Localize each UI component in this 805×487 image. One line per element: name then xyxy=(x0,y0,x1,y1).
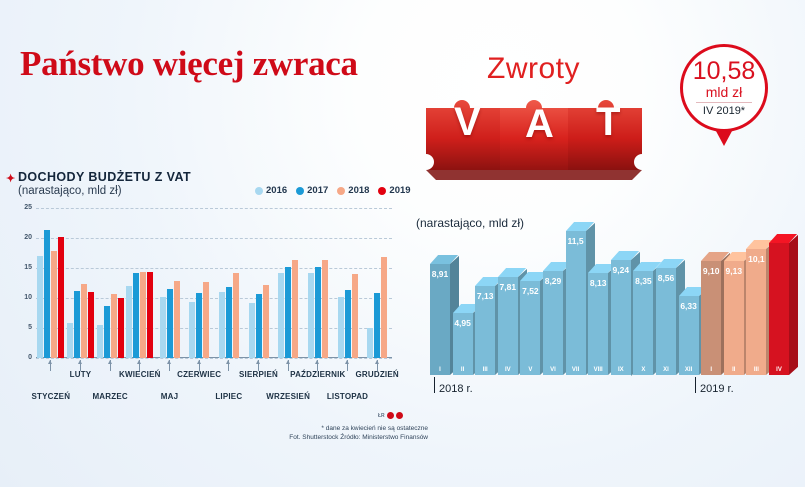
bar-2017 xyxy=(256,294,262,358)
y-axis-tick: 10 xyxy=(14,294,32,301)
bar-value-label: 8,35 xyxy=(633,276,653,286)
bar-month-label: IV xyxy=(498,367,518,373)
bar-2017 xyxy=(315,267,321,358)
footnote-line-1: * dane za kwiecień nie są ostateczne xyxy=(232,424,428,433)
bar-month-label: III xyxy=(475,367,495,373)
bar-value-label: 8,91 xyxy=(430,269,450,279)
bar-2018 xyxy=(233,273,239,358)
bar-group xyxy=(125,208,155,358)
bar-group xyxy=(184,208,214,358)
x-axis-label: CZERWIEC xyxy=(177,370,221,379)
zwroty-title: Zwroty xyxy=(487,52,580,86)
bar-3d: 8,13VIII xyxy=(588,273,608,375)
bar-3d: 6,33XII xyxy=(679,296,699,375)
bar-2018 xyxy=(203,282,209,358)
bar-value-label: 8,56 xyxy=(656,273,676,283)
bar-month-label: III xyxy=(746,367,766,373)
bar-month-label: I xyxy=(701,367,721,373)
legend-item-2016: 2016 xyxy=(255,185,287,196)
chart-legend: 2016201720182019 xyxy=(255,185,411,196)
bar-face xyxy=(588,273,608,375)
legend-item-2018: 2018 xyxy=(337,185,369,196)
bar-3d: 9,10I xyxy=(701,261,721,375)
bar-group xyxy=(273,208,303,358)
bar-3d: 9,24IX xyxy=(611,260,631,376)
bar-2016 xyxy=(126,286,132,358)
legend-dot-icon xyxy=(378,187,386,195)
bar-value-label: 9,13 xyxy=(724,266,744,276)
bar-face xyxy=(566,231,586,375)
year-2018-tick xyxy=(434,377,435,393)
x-axis-label: PAŹDZIERNIK xyxy=(290,370,345,379)
bar-2016 xyxy=(37,256,43,358)
bar-group xyxy=(36,208,66,358)
bar-2018 xyxy=(140,272,146,358)
y-axis-tick: 25 xyxy=(14,204,32,211)
x-axis-label: LIPIEC xyxy=(215,392,242,401)
chart-header: ✦ Dochody budżetu z VAT (narastająco, ml… xyxy=(18,170,191,197)
bar-3d: 7,13III xyxy=(475,286,495,375)
y-axis-tick: 0 xyxy=(14,354,32,361)
footnote-line-2: Fot. Shutterstock Źródło: Ministerstwo F… xyxy=(232,433,428,442)
x-axis-label: LUTY xyxy=(70,370,92,379)
x-axis-labels: STYCZEŃLUTYMARZECKWIECIEŃMAJCZERWIECLIPI… xyxy=(36,370,392,412)
legend-dot-icon xyxy=(296,187,304,195)
bar-2019 xyxy=(88,292,94,358)
bar-3d: 8,29VI xyxy=(543,271,563,375)
bar-3d: 8,35X xyxy=(633,271,653,375)
bar-2018 xyxy=(263,285,269,358)
gridline xyxy=(36,358,392,359)
bar-month-label: XI xyxy=(656,367,676,373)
pin-value: 10,58 xyxy=(693,59,756,84)
bar-2016 xyxy=(278,273,284,358)
x-axis-label: WRZESIEŃ xyxy=(266,392,310,401)
bar-2017 xyxy=(374,293,380,358)
x-axis-label: MARZEC xyxy=(92,392,127,401)
bar-face xyxy=(724,261,744,375)
bar-2016 xyxy=(97,325,103,358)
left-panel: Państwo więcej zwraca ✦ Dochody budżetu … xyxy=(0,0,412,487)
bar-value-label: 7,81 xyxy=(498,282,518,292)
bar-group xyxy=(214,208,244,358)
legend-label: 2018 xyxy=(348,185,369,196)
bar-month-label: VIII xyxy=(588,367,608,373)
bar-2018 xyxy=(51,251,57,358)
bar-value-label: 9,10 xyxy=(701,266,721,276)
bar-value-label: 7,13 xyxy=(475,291,495,301)
bar-group xyxy=(362,208,392,358)
legend-item-2017: 2017 xyxy=(296,185,328,196)
bar-2016 xyxy=(67,323,73,358)
bar-face xyxy=(430,264,450,375)
legend-label: 2017 xyxy=(307,185,328,196)
bar-3d: 8,91I xyxy=(430,264,450,375)
bar-2016 xyxy=(189,302,195,358)
bar-group xyxy=(95,208,125,358)
y-axis-tick: 5 xyxy=(14,324,32,331)
bar-2017 xyxy=(74,291,80,358)
x-axis-label: MAJ xyxy=(161,392,179,401)
bar-group xyxy=(303,208,333,358)
x-axis-label: KWIECIEŃ xyxy=(119,370,161,379)
bar-month-label: X xyxy=(633,367,653,373)
bar-3d: 11,5VII xyxy=(566,231,586,375)
bar-value-label: 9,24 xyxy=(611,265,631,275)
bar-month-label: IX xyxy=(611,367,631,373)
bar-face xyxy=(746,249,766,375)
legend-label: 2016 xyxy=(266,185,287,196)
bar-value-label: 10,1 xyxy=(746,254,766,264)
infographic-page: Państwo więcej zwraca ✦ Dochody budżetu … xyxy=(0,0,805,487)
bar-value-label: 11,5 xyxy=(566,236,586,246)
bar-2018 xyxy=(174,281,180,358)
bar-2016 xyxy=(219,292,225,358)
bar-2017 xyxy=(226,287,232,358)
vat-letter-t: T xyxy=(596,100,620,145)
bar-2017 xyxy=(167,289,173,358)
bullet-icon: ✦ xyxy=(6,174,15,184)
bar-2018 xyxy=(111,294,117,358)
bar-group xyxy=(66,208,96,358)
bar-group xyxy=(333,208,363,358)
bar-3d: 7,81IV xyxy=(498,277,518,375)
bar-value-label: 7,52 xyxy=(520,286,540,296)
bar-2016 xyxy=(367,328,373,358)
bar-2017 xyxy=(133,273,139,358)
highlight-pin: 10,58 mld zł IV 2019* xyxy=(680,44,772,149)
bar-3d: 7,52V xyxy=(520,281,540,375)
bar-face xyxy=(611,260,631,376)
bar-face xyxy=(633,271,653,375)
bar-month-label: VI xyxy=(543,367,563,373)
bar-2017 xyxy=(345,290,351,358)
legend-dot-icon xyxy=(255,187,263,195)
bar-month-label: VII xyxy=(566,367,586,373)
footnote: * dane za kwiecień nie są ostateczne Fot… xyxy=(232,424,428,442)
y-axis-tick: 20 xyxy=(14,234,32,241)
bar-groups xyxy=(36,208,392,358)
bar-2018 xyxy=(381,257,387,358)
bar-2018 xyxy=(352,274,358,358)
bar-chart-plot: 0510152025 xyxy=(36,208,392,358)
bar-value-label: 8,29 xyxy=(543,276,563,286)
chart-title: Dochody budżetu z VAT xyxy=(18,170,191,184)
bar-month-label: II xyxy=(724,367,744,373)
pin-unit: mld zł xyxy=(706,84,743,100)
x-axis-label: STYCZEŃ xyxy=(31,392,70,401)
bar-2019 xyxy=(118,298,124,358)
x-axis-label: LISTOPAD xyxy=(327,392,368,401)
bar-2016 xyxy=(249,303,255,358)
bar-2017 xyxy=(196,293,202,358)
bar-3d: 8,56XI xyxy=(656,268,676,375)
x-axis-label: SIERPIEŃ xyxy=(239,370,278,379)
bar-face xyxy=(701,261,721,375)
bar-2017 xyxy=(44,230,50,358)
bar-2018 xyxy=(292,260,298,358)
bar-2016 xyxy=(338,297,344,358)
bar-month-label: I xyxy=(430,367,450,373)
bar-month-label: IV xyxy=(769,367,789,373)
x-axis-label: GRUDZIEŃ xyxy=(355,370,398,379)
bar-side xyxy=(789,235,798,375)
pin-divider xyxy=(696,102,752,103)
legend-item-2019: 2019 xyxy=(378,185,410,196)
bar-month-label: XII xyxy=(679,367,699,373)
vat-puzzle-graphic: V A T xyxy=(420,88,675,183)
year-2019-label: 2019 r. xyxy=(700,383,734,395)
bar-2019 xyxy=(147,272,153,358)
bar-2016 xyxy=(160,297,166,358)
author-credit: ŁR xyxy=(378,412,403,419)
chart-subtitle: (narastająco, mld zł) xyxy=(18,185,191,197)
right-panel: Zwroty V xyxy=(412,0,805,487)
bar-month-label: II xyxy=(453,367,473,373)
credit-initials: ŁR xyxy=(378,413,385,419)
vat-letter-a: A xyxy=(525,102,554,147)
credit-dot-icon xyxy=(387,412,394,419)
y-axis-tick: 15 xyxy=(14,264,32,271)
year-2018-label: 2018 r. xyxy=(439,383,473,395)
credit-dot-icon-2 xyxy=(396,412,403,419)
page-title: Państwo więcej zwraca xyxy=(20,44,358,84)
year-2019-tick xyxy=(695,377,696,393)
legend-dot-icon xyxy=(337,187,345,195)
bar-2016 xyxy=(308,273,314,358)
pin-circle: 10,58 mld zł IV 2019* xyxy=(680,44,768,132)
pin-date: IV 2019* xyxy=(703,105,745,117)
bar-face xyxy=(769,243,789,375)
bar-value-label: 6,33 xyxy=(679,301,699,311)
bar-group xyxy=(155,208,185,358)
bar-2019 xyxy=(58,237,64,358)
bar-3d: 9,13II xyxy=(724,261,744,375)
bar-value-label: 8,13 xyxy=(588,278,608,288)
bar-2018 xyxy=(322,260,328,358)
bar-2017 xyxy=(285,267,291,358)
bar-value-label: 4,95 xyxy=(453,318,473,328)
bar-3d: 10,1III xyxy=(746,249,766,375)
bar-month-label: V xyxy=(520,367,540,373)
bar-face xyxy=(656,268,676,375)
legend-label: 2019 xyxy=(389,185,410,196)
vat-letter-v: V xyxy=(454,100,481,145)
bar-3d: 4,95II xyxy=(453,313,473,375)
zwroty-3d-bar-chart: 8,91I4,95II7,13III7,81IV7,52V8,29VI11,5V… xyxy=(412,180,805,395)
bar-group xyxy=(244,208,274,358)
bar-2018 xyxy=(81,284,87,358)
bar-3d: IV xyxy=(769,243,789,375)
bar-face xyxy=(543,271,563,375)
bar-2017 xyxy=(104,306,110,358)
